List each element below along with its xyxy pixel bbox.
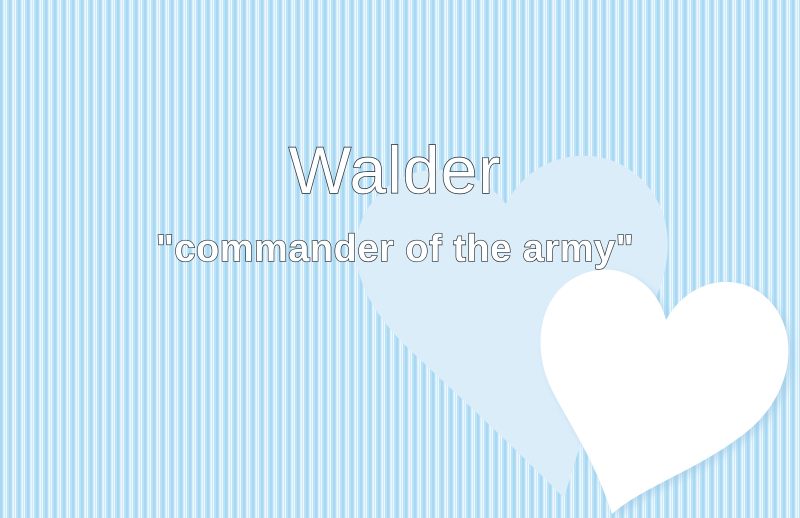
heart-small-white-icon bbox=[534, 262, 792, 514]
name-card: Walder "commander of the army" bbox=[0, 0, 800, 518]
